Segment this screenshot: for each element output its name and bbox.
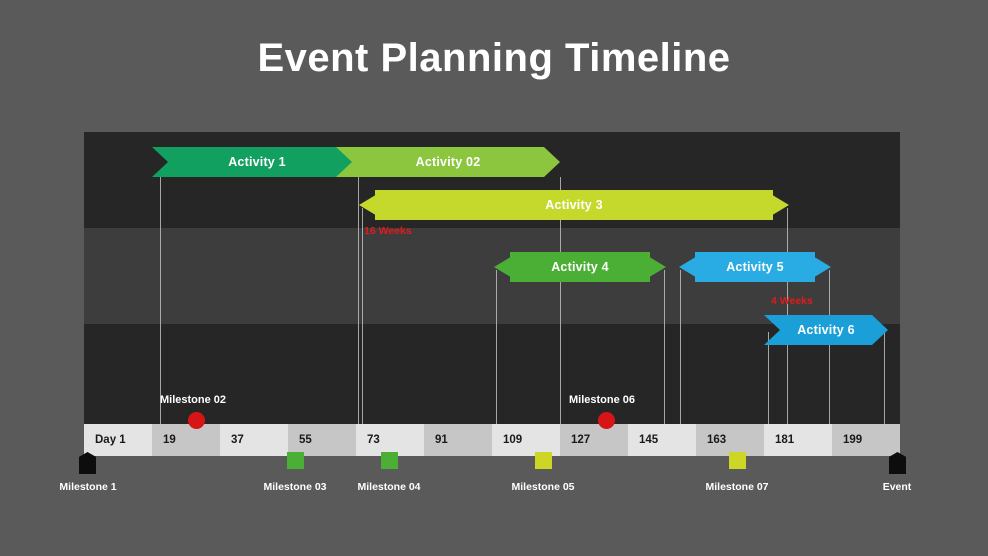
milestone-label-milestone-03: Milestone 03	[263, 481, 326, 493]
guide-line	[664, 270, 665, 424]
activity-bar-activity-5[interactable]: Activity 5	[679, 252, 831, 282]
page-title: Event Planning Timeline	[0, 32, 988, 84]
milestone-marker-milestone-07[interactable]	[729, 452, 746, 469]
milestone-marker-milestone-06[interactable]	[598, 412, 615, 429]
duration-label-16-weeks: 16 Weeks	[364, 225, 412, 237]
guide-line	[160, 177, 161, 424]
axis-cell[interactable]: 127	[560, 424, 628, 456]
milestone-callout-milestone-06: Milestone 06	[569, 394, 635, 406]
axis-cell[interactable]: 145	[628, 424, 696, 456]
axis-cell[interactable]: 37	[220, 424, 288, 456]
timeline-axis: Day 1 19 37 55 73 91 109 127 145 163 181…	[84, 424, 900, 456]
guide-line	[680, 270, 681, 424]
milestone-label-milestone-05: Milestone 05	[511, 481, 574, 493]
slide-canvas: Event Planning Timeline Activity 1 Activ…	[0, 0, 988, 556]
milestone-label-milestone-07: Milestone 07	[705, 481, 768, 493]
guide-line	[884, 332, 885, 424]
guide-line	[362, 208, 363, 424]
guide-line	[496, 270, 497, 424]
activity-bar-activity-1[interactable]: Activity 1	[152, 147, 362, 177]
duration-label-4-weeks: 4 Weeks	[771, 295, 813, 307]
activity-label: Activity 6	[797, 323, 855, 337]
guide-line	[829, 270, 830, 424]
milestone-label-milestone-04: Milestone 04	[357, 481, 420, 493]
milestone-marker-milestone-03[interactable]	[287, 452, 304, 469]
activity-label: Activity 4	[551, 260, 609, 274]
milestone-marker-milestone-04[interactable]	[381, 452, 398, 469]
activity-label: Activity 02	[416, 155, 481, 169]
activity-label: Activity 3	[545, 198, 603, 212]
milestone-marker-milestone-02[interactable]	[188, 412, 205, 429]
timeline-panel: Activity 1 Activity 02 Activity 3 16 Wee…	[84, 132, 900, 424]
activity-label: Activity 1	[228, 155, 286, 169]
activity-bar-activity-4[interactable]: Activity 4	[494, 252, 666, 282]
milestone-label-milestone-1: Milestone 1	[59, 481, 116, 493]
axis-cell[interactable]: 181	[764, 424, 832, 456]
guide-line	[768, 332, 769, 424]
activity-bar-activity-02[interactable]: Activity 02	[336, 147, 560, 177]
axis-cell[interactable]: 19	[152, 424, 220, 456]
milestone-callout-milestone-02: Milestone 02	[160, 394, 226, 406]
axis-cell[interactable]: 91	[424, 424, 492, 456]
milestone-label-event: Event	[883, 481, 912, 493]
activity-bar-activity-6[interactable]: Activity 6	[764, 315, 888, 345]
activity-bar-activity-3[interactable]: Activity 3	[359, 190, 789, 220]
activity-label: Activity 5	[726, 260, 784, 274]
milestone-marker-milestone-05[interactable]	[535, 452, 552, 469]
axis-cell[interactable]: Day 1	[84, 424, 152, 456]
guide-line	[358, 177, 359, 424]
axis-cell[interactable]: 199	[832, 424, 900, 456]
